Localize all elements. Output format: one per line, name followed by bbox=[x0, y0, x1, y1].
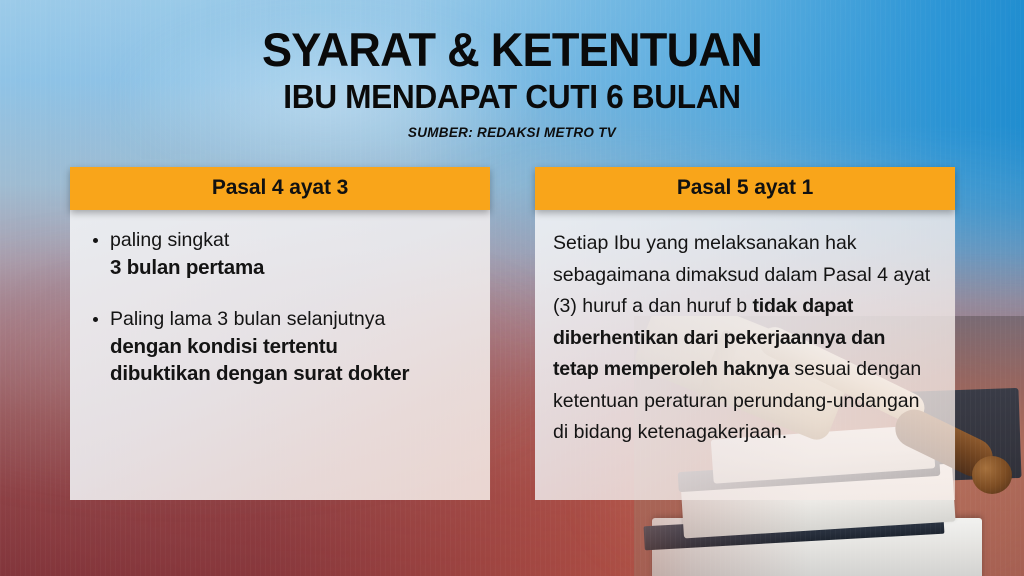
card-pasal-5-ayat-1: Pasal 5 ayat 1 Setiap Ibu yang melaksana… bbox=[535, 167, 955, 500]
card-left-body: paling singkat 3 bulan pertama Paling la… bbox=[70, 210, 490, 500]
bullet-text-bold: dibuktikan dengan surat dokter bbox=[110, 360, 470, 387]
page-subtitle: IBU MENDAPAT CUTI 6 BULAN bbox=[20, 79, 1003, 115]
paragraph-lead: Setiap Ibu yang melaksanakan hak sebagai… bbox=[553, 232, 930, 317]
broadcast-graphic-slide: SYARAT & KETENTUAN IBU MENDAPAT CUTI 6 B… bbox=[0, 0, 1024, 576]
card-pasal-4-ayat-3: Pasal 4 ayat 3 paling singkat 3 bulan pe… bbox=[70, 167, 490, 500]
card-right-heading: Pasal 5 ayat 1 bbox=[535, 167, 955, 210]
source-credit: SUMBER: REDAKSI METRO TV bbox=[0, 125, 1024, 140]
bullet-text-bold: dengan kondisi tertentu bbox=[110, 333, 470, 360]
card-right-body: Setiap Ibu yang melaksanakan hak sebagai… bbox=[535, 210, 955, 500]
list-item: paling singkat 3 bulan pertama bbox=[88, 228, 470, 281]
bullet-text-normal: Paling lama 3 bulan selanjutnya bbox=[110, 308, 385, 330]
card-left-heading: Pasal 4 ayat 3 bbox=[70, 167, 490, 210]
bullet-text-bold: 3 bulan pertama bbox=[110, 254, 470, 281]
card-left-bullet-list: paling singkat 3 bulan pertama Paling la… bbox=[88, 228, 470, 387]
card-right-paragraph: Setiap Ibu yang melaksanakan hak sebagai… bbox=[553, 228, 935, 449]
bullet-text-normal: paling singkat bbox=[110, 229, 229, 251]
list-item: Paling lama 3 bulan selanjutnya dengan k… bbox=[88, 307, 470, 387]
headline-block: SYARAT & KETENTUAN IBU MENDAPAT CUTI 6 B… bbox=[0, 26, 1024, 140]
page-title: SYARAT & KETENTUAN bbox=[20, 26, 1003, 75]
